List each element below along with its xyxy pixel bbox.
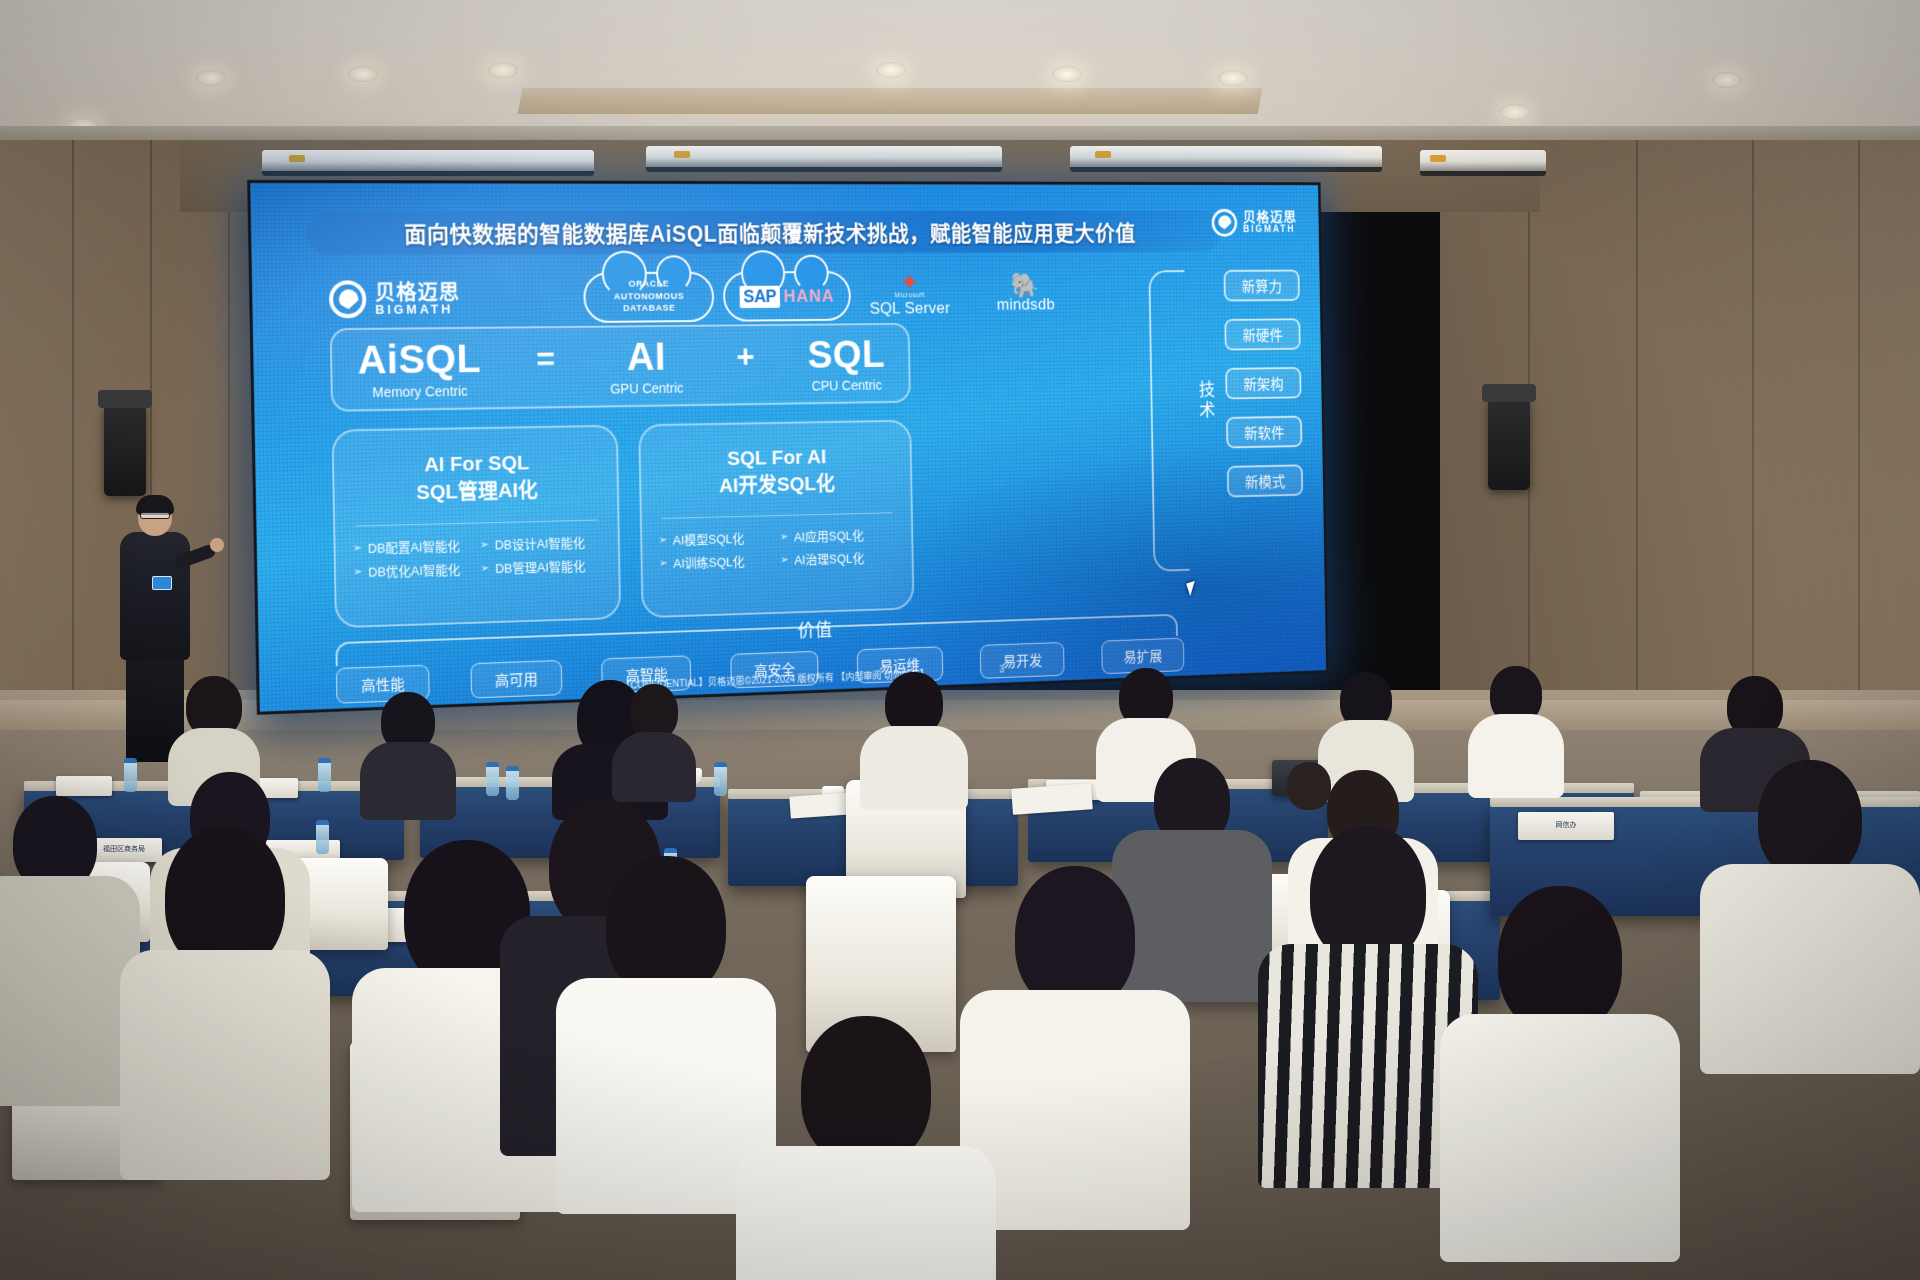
oracle-autonomous-database-logo: ORACLE AUTONOMOUS DATABASE [583, 272, 714, 323]
oracle-line-2: AUTONOMOUS [614, 291, 685, 304]
arrow-bullet-icon: ➢ [481, 562, 490, 575]
arrow-bullet-icon: ➢ [353, 565, 362, 578]
footer-page-number: 3 [999, 665, 1004, 676]
sap-hana-logo: SAP HANA [723, 271, 851, 322]
ceiling-downlight [1052, 66, 1082, 82]
brand-name-cn: 贝格迈思 [1243, 211, 1297, 225]
sql-server-label: SQL Server [851, 299, 969, 319]
water-bottle [124, 758, 137, 792]
bullet-label: AI模型SQL化 [673, 529, 745, 549]
oracle-line-3: DATABASE [614, 303, 685, 316]
feature-card-row: AI For SQL SQL管理AI化 ➢DB配置AI智能化 ➢DB设计AI智能… [332, 420, 915, 629]
audience-member [0, 796, 140, 1096]
mindsdb-elephant-icon: 🐘 [968, 274, 1082, 295]
tech-pill-architecture[interactable]: 新架构 [1225, 367, 1301, 399]
technology-pill-column: 新算力 新硬件 新架构 新软件 新模式 [1188, 270, 1303, 499]
table-nameplate: 网信办 [1518, 812, 1614, 840]
ceiling-beam [518, 88, 1263, 114]
bullet-label: AI应用SQL化 [794, 526, 864, 546]
sql-server-wing-icon: ✦ [850, 272, 968, 292]
document-paper [1011, 783, 1093, 815]
audience-member [1270, 762, 1348, 832]
list-item: ➢AI模型SQL化 [659, 528, 777, 549]
card-title-cn: AI开发SQL化 [719, 470, 835, 499]
table-nameplate [56, 776, 112, 796]
ceiling-downlight [488, 62, 518, 78]
bullet-label: AI治理SQL化 [794, 549, 864, 569]
air-conditioner-unit [1420, 150, 1546, 176]
mindsdb-label: mindsdb [969, 295, 1083, 315]
card-divider [355, 520, 598, 527]
ceiling-downlight [1500, 104, 1530, 120]
brand-name-en: BIGMATH [1243, 225, 1297, 234]
tech-pill-hardware[interactable]: 新硬件 [1224, 318, 1300, 350]
microsoft-sql-server-logo: ✦ Microsoft SQL Server [850, 272, 969, 318]
presenter-badge [152, 576, 172, 590]
equation-term-aisql: AiSQL Memory Centric [357, 338, 481, 400]
card-sql-for-ai: SQL For AI AI开发SQL化 ➢AI模型SQL化 ➢AI应用SQL化 … [638, 420, 914, 619]
equation-operator-plus: + [736, 338, 755, 391]
term-subtitle: GPU Centric [610, 380, 683, 397]
oracle-line-1: ORACLE [614, 279, 685, 292]
conference-room-photo: 面向快数据的智能数据库AiSQL面临颠覆新技术挑战，赋能智能应用更大价值 贝格迈… [0, 0, 1920, 1280]
slide-content: 面向快数据的智能数据库AiSQL面临颠覆新技术挑战，赋能智能应用更大价值 贝格迈… [250, 183, 1326, 712]
equation-term-sql: SQL CPU Centric [807, 334, 885, 393]
card-title-cn: SQL管理AI化 [416, 477, 538, 507]
term-subtitle: Memory Centric [358, 382, 482, 400]
term-label: SQL [807, 334, 885, 374]
arrow-bullet-icon: ➢ [780, 531, 789, 544]
aisql-equation-box: AiSQL Memory Centric = AI GPU Centric + … [330, 323, 911, 412]
microsoft-vendor-label: Microsoft [851, 292, 969, 299]
audience-member [1440, 886, 1680, 1246]
term-subtitle: CPU Centric [808, 377, 886, 393]
slide-title-banner: 面向快数据的智能数据库AiSQL面临颠覆新技术挑战，赋能智能应用更大价值 [306, 211, 1222, 255]
arrow-bullet-icon: ➢ [353, 542, 362, 555]
nameplate-label: 网信办 [1556, 822, 1577, 831]
tech-pill-model[interactable]: 新模式 [1227, 464, 1303, 497]
ceiling-downlight [348, 66, 378, 82]
audience-member [360, 692, 456, 810]
water-bottle [714, 762, 727, 796]
wall-speaker [1488, 398, 1530, 490]
corner-brand-logo: 贝格迈思 BIGMATH [1211, 209, 1297, 237]
ceiling-downlight [1218, 70, 1248, 86]
bigmath-swirl-icon [1211, 209, 1237, 237]
equation-term-ai: AI GPU Centric [609, 336, 683, 396]
audience-member [1468, 666, 1564, 792]
partner-logo-row: 贝格迈思 BIGMATH ORACLE AUTONOMOUS DATABASE [329, 265, 1169, 331]
list-item: ➢AI应用SQL化 [780, 525, 896, 546]
ceiling-downlight [196, 70, 226, 86]
card-ai-for-sql: AI For SQL SQL管理AI化 ➢DB配置AI智能化 ➢DB设计AI智能… [332, 425, 622, 629]
sap-wordmark: SAP [739, 285, 780, 307]
brand-name-cn: 贝格迈思 [375, 281, 460, 303]
bigmath-logo: 贝格迈思 BIGMATH [329, 280, 461, 319]
bullet-label: AI训练SQL化 [673, 552, 745, 572]
list-item: ➢AI治理SQL化 [780, 548, 896, 569]
term-label: AiSQL [357, 338, 481, 380]
tech-pill-compute[interactable]: 新算力 [1224, 270, 1300, 302]
tech-pill-software[interactable]: 新软件 [1226, 416, 1302, 449]
water-bottle [506, 766, 519, 800]
audience-member [612, 684, 696, 794]
mindsdb-logo: 🐘 mindsdb [968, 274, 1083, 314]
list-item: ➢AI训练SQL化 [659, 551, 777, 573]
hana-wordmark: HANA [783, 286, 834, 306]
card-bullet-list: ➢AI模型SQL化 ➢AI应用SQL化 ➢AI训练SQL化 ➢AI治理SQL化 [653, 525, 901, 573]
audience-member [120, 826, 330, 1166]
arrow-bullet-icon: ➢ [480, 538, 489, 551]
ceiling-downlight [876, 62, 906, 78]
pill-label: 新算力 [1241, 274, 1282, 296]
list-item: ➢DB管理AI智能化 [480, 556, 601, 578]
water-bottle [318, 758, 331, 792]
card-title-en: SQL For AI [718, 444, 834, 473]
bigmath-swirl-icon [329, 280, 367, 318]
water-bottle [486, 762, 499, 796]
brand-name-en: BIGMATH [375, 303, 460, 317]
eyeglasses-icon [140, 512, 170, 519]
pill-label: 新硬件 [1242, 323, 1283, 346]
air-conditioner-unit [646, 146, 1002, 172]
audience-member [860, 672, 968, 802]
wall-speaker [104, 404, 146, 496]
ceiling-downlight [1712, 72, 1742, 88]
pill-label: 新模式 [1245, 469, 1286, 492]
air-conditioner-unit [262, 150, 594, 176]
audience-member [1700, 760, 1920, 1060]
list-item: ➢DB设计AI智能化 [480, 532, 601, 554]
bullet-label: DB优化AI智能化 [368, 560, 460, 581]
card-bullet-list: ➢DB配置AI智能化 ➢DB设计AI智能化 ➢DB优化AI智能化 ➢DB管理AI… [347, 532, 607, 581]
pill-label: 新架构 [1243, 372, 1284, 395]
term-label: AI [609, 336, 683, 377]
list-item: ➢DB配置AI智能化 [353, 536, 477, 558]
bullet-label: DB设计AI智能化 [495, 533, 586, 554]
arrow-bullet-icon: ➢ [659, 534, 668, 547]
slide-title: 面向快数据的智能数据库AiSQL面临颠覆新技术挑战，赋能智能应用更大价值 [404, 215, 1136, 249]
card-divider [661, 513, 892, 520]
audience-member [736, 1016, 996, 1280]
technology-brace [1148, 270, 1189, 572]
arrow-bullet-icon: ➢ [659, 557, 668, 570]
arrow-bullet-icon: ➢ [780, 554, 789, 567]
pill-label: 新软件 [1244, 421, 1285, 444]
air-conditioner-unit [1070, 146, 1382, 172]
card-title-en: AI For SQL [415, 450, 537, 480]
equation-operator-equals: = [536, 340, 556, 394]
led-presentation-screen[interactable]: 面向快数据的智能数据库AiSQL面临颠覆新技术挑战，赋能智能应用更大价值 贝格迈… [247, 180, 1328, 715]
list-item: ➢DB优化AI智能化 [353, 559, 477, 581]
bullet-label: DB配置AI智能化 [368, 536, 460, 557]
bullet-label: DB管理AI智能化 [495, 556, 586, 577]
